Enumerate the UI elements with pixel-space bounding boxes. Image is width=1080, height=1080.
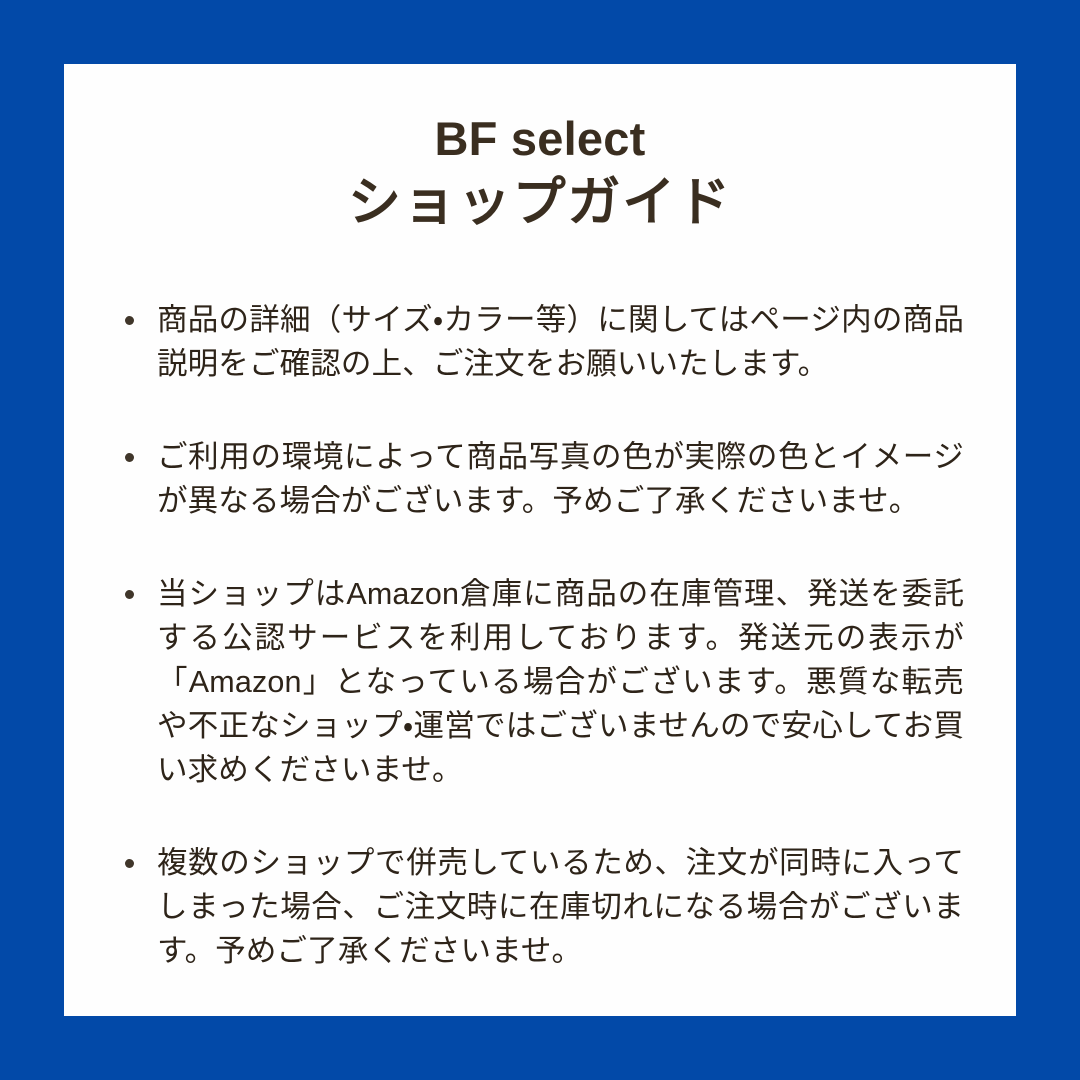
notice-text: 商品の詳細（サイズ・カラー等）に関してはページ内の商品説明をご確認の上、ご注文を… (157, 298, 964, 386)
bullet-dot-icon (125, 859, 134, 868)
page-title-brand: BF select (116, 108, 964, 170)
bullet-dot-icon (125, 316, 134, 325)
notice-text: ご利用の環境によって商品写真の色が実際の色とイメージが異なる場合がございます。予… (157, 435, 964, 523)
page-title-subtitle: ショップガイド (116, 170, 964, 236)
bullet-dot-icon (125, 453, 134, 462)
bullet-dot-icon (125, 590, 134, 599)
list-item-product-details: 商品の詳細（サイズ・カラー等）に関してはページ内の商品説明をご確認の上、ご注文を… (116, 298, 964, 386)
shop-guide-card: BF select ショップガイド 商品の詳細（サイズ・カラー等）に関してはペー… (64, 64, 1016, 1016)
notice-text: 当ショップはAmazon倉庫に商品の在庫管理、発送を委託する公認サービスを利用し… (157, 572, 964, 792)
page-title: BF select ショップガイド (116, 108, 964, 236)
list-item-multi-shop-stock: 複数のショップで併売しているため、注文が同時に入ってしまった場合、ご注文時に在庫… (116, 841, 964, 973)
list-item-amazon-fulfillment: 当ショップはAmazon倉庫に商品の在庫管理、発送を委託する公認サービスを利用し… (116, 572, 964, 792)
list-item-color-difference: ご利用の環境によって商品写真の色が実際の色とイメージが異なる場合がございます。予… (116, 435, 964, 523)
blue-frame-background: BF select ショップガイド 商品の詳細（サイズ・カラー等）に関してはペー… (0, 0, 1080, 1080)
notice-text: 複数のショップで併売しているため、注文が同時に入ってしまった場合、ご注文時に在庫… (157, 841, 964, 973)
notice-list: 商品の詳細（サイズ・カラー等）に関してはページ内の商品説明をご確認の上、ご注文を… (116, 298, 964, 973)
